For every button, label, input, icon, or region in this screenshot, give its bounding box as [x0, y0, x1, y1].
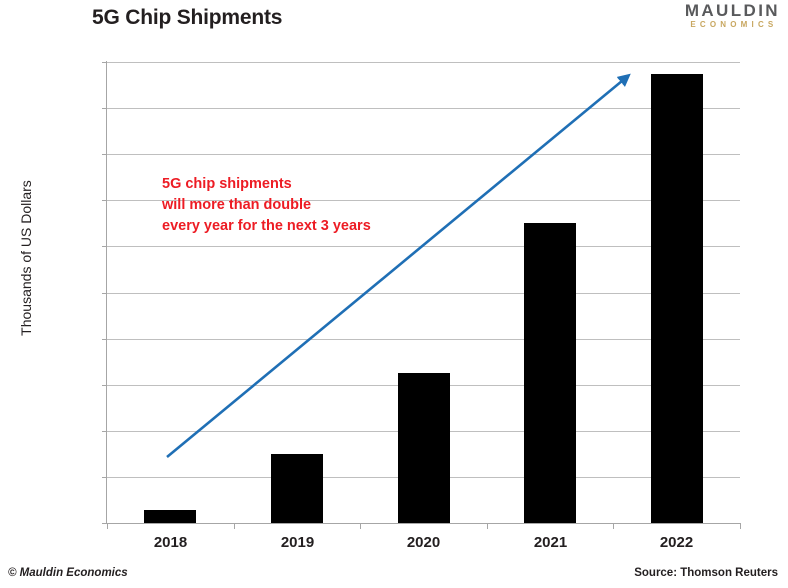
gridline — [107, 523, 740, 524]
bar-2019 — [271, 454, 323, 523]
bar-2020 — [398, 373, 450, 523]
x-axis-tick-label-2022: 2022 — [613, 534, 740, 551]
page-title: 5G Chip Shipments — [92, 6, 282, 30]
bar-2018 — [144, 510, 196, 523]
gridline — [107, 339, 740, 340]
x-axis-tick-label-2019: 2019 — [234, 534, 361, 551]
x-axis-tick-label-2021: 2021 — [487, 534, 614, 551]
x-axis-tick-label-2018: 2018 — [107, 534, 234, 551]
y-axis-tick-mark — [102, 385, 107, 386]
x-axis-tick-mark — [613, 523, 614, 529]
annotation-line-1: 5G chip shipments — [162, 174, 371, 195]
y-axis-tick-mark — [102, 62, 107, 63]
y-axis-tick-mark — [102, 339, 107, 340]
brand-logo: MAULDIN ECONOMICS — [685, 2, 780, 29]
gridline — [107, 108, 740, 109]
x-axis-tick-mark — [234, 523, 235, 529]
y-axis-tick-mark — [102, 246, 107, 247]
y-axis-title: Thousands of US Dollars — [18, 128, 34, 388]
gridline — [107, 246, 740, 247]
gridline — [107, 293, 740, 294]
annotation-line-2: will more than double — [162, 195, 371, 216]
bar-2021 — [524, 223, 576, 523]
y-axis-tick-mark — [102, 108, 107, 109]
x-axis-tick-mark — [740, 523, 741, 529]
brand-logo-secondary: ECONOMICS — [688, 21, 780, 29]
y-axis-tick-mark — [102, 431, 107, 432]
x-axis-tick-label-2020: 2020 — [360, 534, 487, 551]
y-axis-tick-mark — [102, 293, 107, 294]
y-axis-tick-mark — [102, 477, 107, 478]
annotation-line-3: every year for the next 3 years — [162, 216, 371, 237]
footer-source: Source: Thomson Reuters — [634, 567, 778, 579]
brand-logo-primary: MAULDIN — [685, 2, 780, 19]
footer-copyright: © Mauldin Economics — [8, 567, 128, 579]
x-axis-tick-mark — [487, 523, 488, 529]
y-axis-tick-mark — [102, 154, 107, 155]
chart-plot-area: $0$2$4$6$8$10$12$14$16$18$20 20182019202… — [107, 62, 740, 523]
y-axis-tick-mark — [102, 200, 107, 201]
gridline — [107, 154, 740, 155]
chart-annotation-text: 5G chip shipmentswill more than doubleev… — [162, 174, 371, 237]
x-axis-tick-mark — [107, 523, 108, 529]
gridline — [107, 62, 740, 63]
bar-2022 — [651, 74, 703, 523]
x-axis-tick-mark — [360, 523, 361, 529]
